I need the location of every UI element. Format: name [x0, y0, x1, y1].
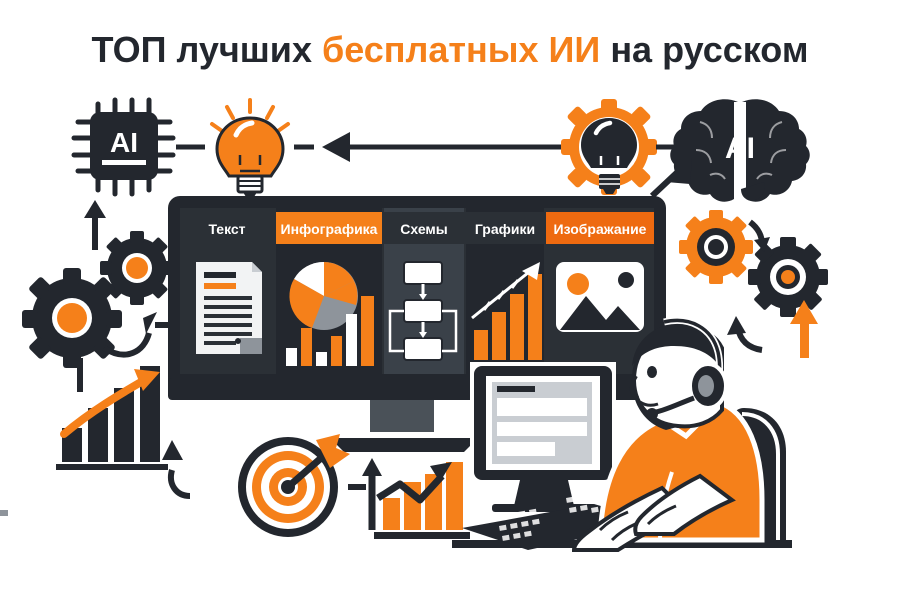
svg-text:AI: AI: [110, 127, 138, 158]
gear-icon: [100, 231, 174, 305]
monitor-stand-neck: [370, 400, 434, 432]
tab-label-graphs[interactable]: Графики: [475, 221, 535, 237]
monitor-tab-bar[interactable]: Текст Инфографика Схемы Графики Изобража…: [180, 212, 654, 244]
gear-icon: [679, 210, 753, 284]
tab-label-image[interactable]: Изображание: [554, 221, 647, 237]
page-title: ТОП лучших бесплатных ИИ на русском: [92, 29, 809, 70]
tab-label-text[interactable]: Текст: [208, 221, 245, 237]
decorative-mark: [0, 510, 8, 516]
infographic-canvas: ТОП лучших бесплатных ИИ на русском AI: [0, 0, 900, 600]
tab-label-schemes[interactable]: Схемы: [400, 221, 447, 237]
gear-icon: [748, 237, 828, 317]
monitor-stand-base: [330, 438, 478, 452]
lightbulb-in-gear-icon: [561, 99, 657, 195]
photo-icon: [556, 262, 644, 332]
svg-text:AI: AI: [725, 132, 755, 165]
tab-label-infographic[interactable]: Инфографика: [281, 221, 378, 237]
document-lines-icon: [196, 262, 262, 354]
